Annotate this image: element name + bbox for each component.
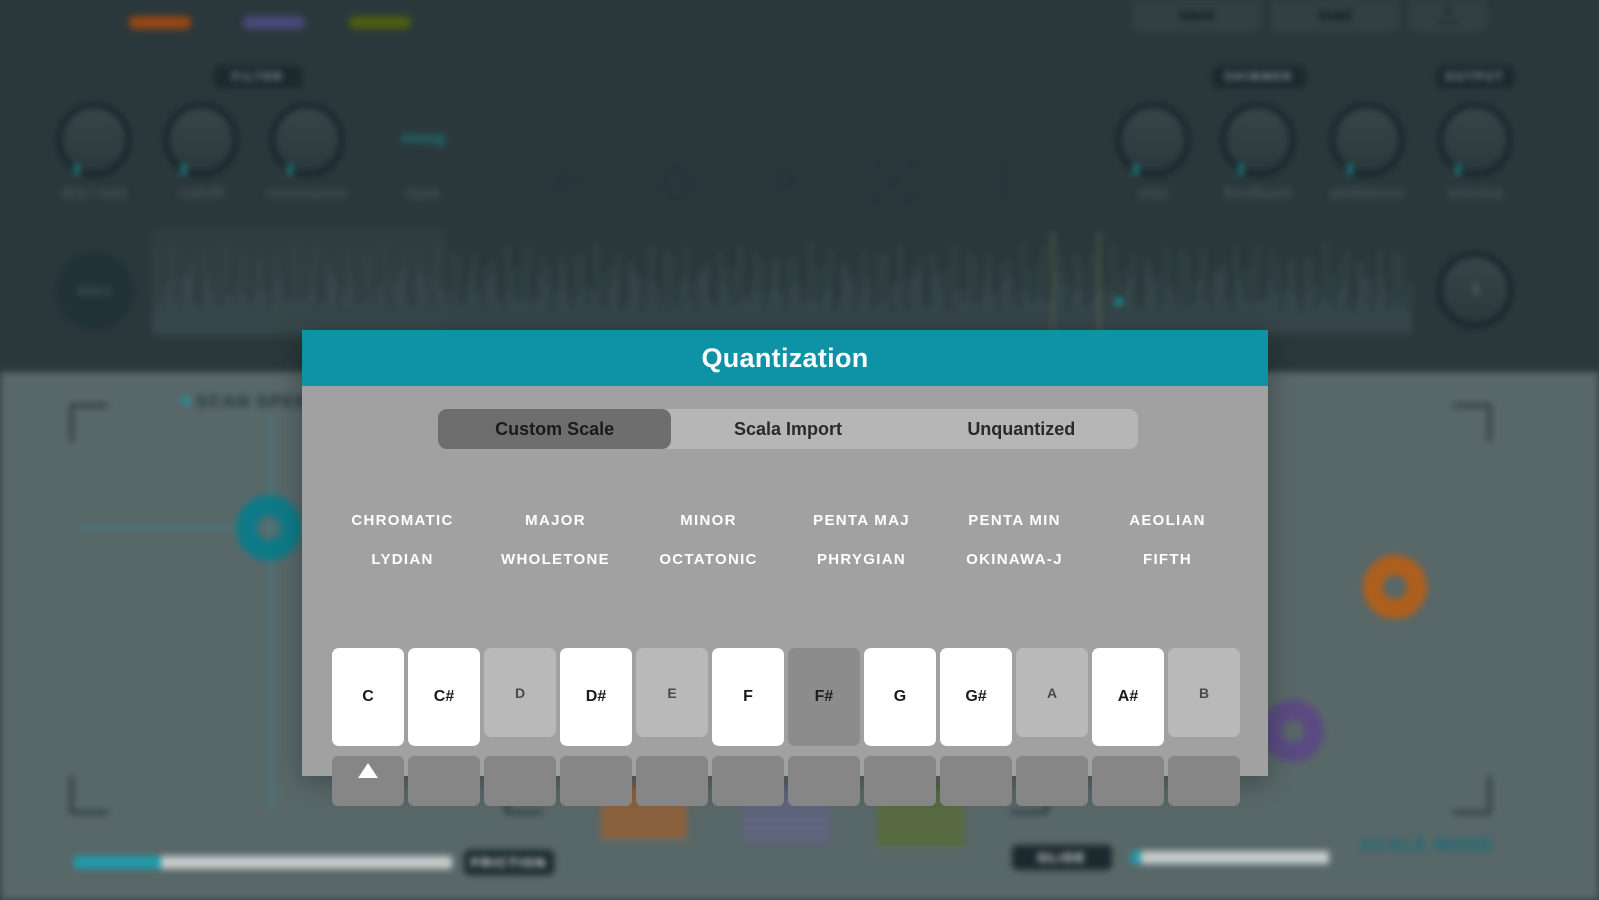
root-marker-triangle-icon: [358, 763, 378, 778]
scale-preset-grid: CHROMATICMAJORMINORPENTA MAJPENTA MINAEO…: [326, 512, 1244, 568]
root-cell-Dsharp[interactable]: [560, 756, 632, 806]
scale-preset-minor[interactable]: MINOR: [632, 512, 785, 529]
note-key-Fsharp[interactable]: F#: [788, 648, 860, 746]
note-key-Csharp[interactable]: C#: [408, 648, 480, 746]
note-key-Dsharp[interactable]: D#: [560, 648, 632, 746]
note-keyboard: CC#DD#EFF#GG#AA#B: [332, 648, 1240, 746]
scale-preset-major[interactable]: MAJOR: [479, 512, 632, 529]
note-key-G[interactable]: G: [864, 648, 936, 746]
tab-custom-scale[interactable]: Custom Scale: [438, 409, 671, 449]
root-cell-A[interactable]: [1016, 756, 1088, 806]
quantization-mode-tabs: Custom ScaleScala ImportUnquantized: [438, 409, 1138, 449]
root-cell-Fsharp[interactable]: [788, 756, 860, 806]
root-cell-F[interactable]: [712, 756, 784, 806]
root-cell-C[interactable]: [332, 756, 404, 806]
note-key-C[interactable]: C: [332, 648, 404, 746]
root-note-selector-row: [332, 756, 1240, 806]
root-cell-Gsharp[interactable]: [940, 756, 1012, 806]
note-key-F[interactable]: F: [712, 648, 784, 746]
note-key-E[interactable]: E: [636, 648, 708, 737]
scale-preset-lydian[interactable]: LYDIAN: [326, 551, 479, 568]
root-cell-G[interactable]: [864, 756, 936, 806]
scale-preset-phrygian[interactable]: PHRYGIAN: [785, 551, 938, 568]
dialog-header: Quantization: [302, 330, 1268, 386]
root-cell-Asharp[interactable]: [1092, 756, 1164, 806]
note-key-A[interactable]: A: [1016, 648, 1088, 737]
dialog-body: Custom ScaleScala ImportUnquantized CHRO…: [302, 386, 1268, 776]
root-cell-D[interactable]: [484, 756, 556, 806]
scale-preset-chromatic[interactable]: CHROMATIC: [326, 512, 479, 529]
note-key-Asharp[interactable]: A#: [1092, 648, 1164, 746]
scale-preset-aeolian[interactable]: AEOLIAN: [1091, 512, 1244, 529]
tab-scala-import[interactable]: Scala Import: [671, 409, 904, 449]
quantization-dialog: Quantization Custom ScaleScala ImportUnq…: [302, 330, 1268, 776]
scale-preset-penta-maj[interactable]: PENTA MAJ: [785, 512, 938, 529]
tab-unquantized[interactable]: Unquantized: [905, 409, 1138, 449]
page-title: Quantization: [701, 343, 868, 374]
root-cell-E[interactable]: [636, 756, 708, 806]
note-key-D[interactable]: D: [484, 648, 556, 737]
scale-preset-octatonic[interactable]: OCTATONIC: [632, 551, 785, 568]
root-cell-B[interactable]: [1168, 756, 1240, 806]
note-key-Gsharp[interactable]: G#: [940, 648, 1012, 746]
scale-preset-wholetone[interactable]: WHOLETONE: [479, 551, 632, 568]
root-cell-Csharp[interactable]: [408, 756, 480, 806]
scale-preset-okinawa-j[interactable]: OKINAWA-J: [938, 551, 1091, 568]
scale-preset-fifth[interactable]: FIFTH: [1091, 551, 1244, 568]
note-key-B[interactable]: B: [1168, 648, 1240, 737]
scale-preset-penta-min[interactable]: PENTA MIN: [938, 512, 1091, 529]
